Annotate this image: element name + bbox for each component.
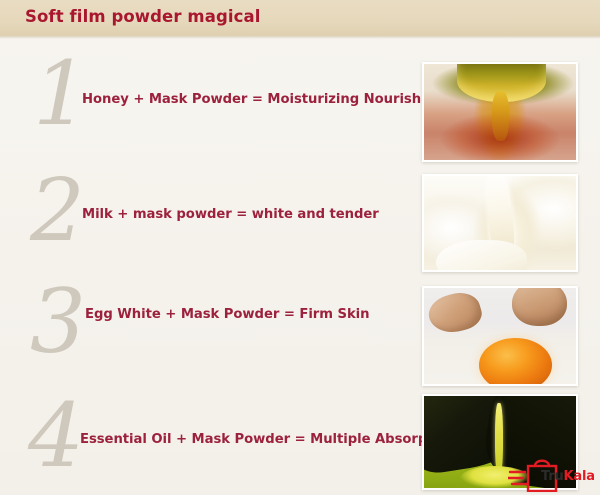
step-row-1: 1 Honey + Mask Powder = Moisturizing Nou… — [0, 52, 600, 168]
brand-name-part-one: Tru — [541, 469, 564, 484]
step-text-2: Milk + mask powder = white and tender — [82, 207, 379, 222]
photo-honey — [422, 62, 578, 162]
step-number-3: 3 — [30, 278, 86, 366]
brand-name: TruKala — [541, 469, 595, 484]
step-text-1: Honey + Mask Powder = Moisturizing Nouri… — [82, 92, 459, 107]
page-title: Soft film powder magical — [25, 7, 261, 26]
step-number-1: 1 — [33, 50, 89, 138]
brand-name-part-two: Kala — [564, 469, 595, 484]
milk-splash-icon — [424, 176, 576, 270]
cracked-egg-yolk-icon — [424, 288, 576, 384]
photo-milk-inner — [424, 176, 576, 270]
oil-stream-icon — [495, 403, 503, 475]
step-text-3: Egg White + Mask Powder = Firm Skin — [85, 307, 369, 322]
eggshell-icon — [512, 288, 567, 326]
step-text-4: Essential Oil + Mask Powder = Multiple A… — [80, 432, 456, 447]
step-row-3: 3 Egg White + Mask Powder = Firm Skin — [0, 280, 600, 392]
poster-root: Soft film powder magical 1 Honey + Mask … — [0, 0, 600, 495]
honey-pouring-from-spoon-icon — [424, 64, 576, 160]
step-number-4: 4 — [28, 392, 84, 480]
step-number-2: 2 — [30, 168, 85, 254]
photo-honey-inner — [424, 64, 576, 160]
photo-egg — [422, 286, 578, 386]
brand-watermark[interactable]: TruKala — [508, 456, 598, 492]
photo-egg-inner — [424, 288, 576, 384]
step-row-2: 2 Milk + mask powder = white and tender — [0, 168, 600, 280]
photo-milk — [422, 174, 578, 272]
